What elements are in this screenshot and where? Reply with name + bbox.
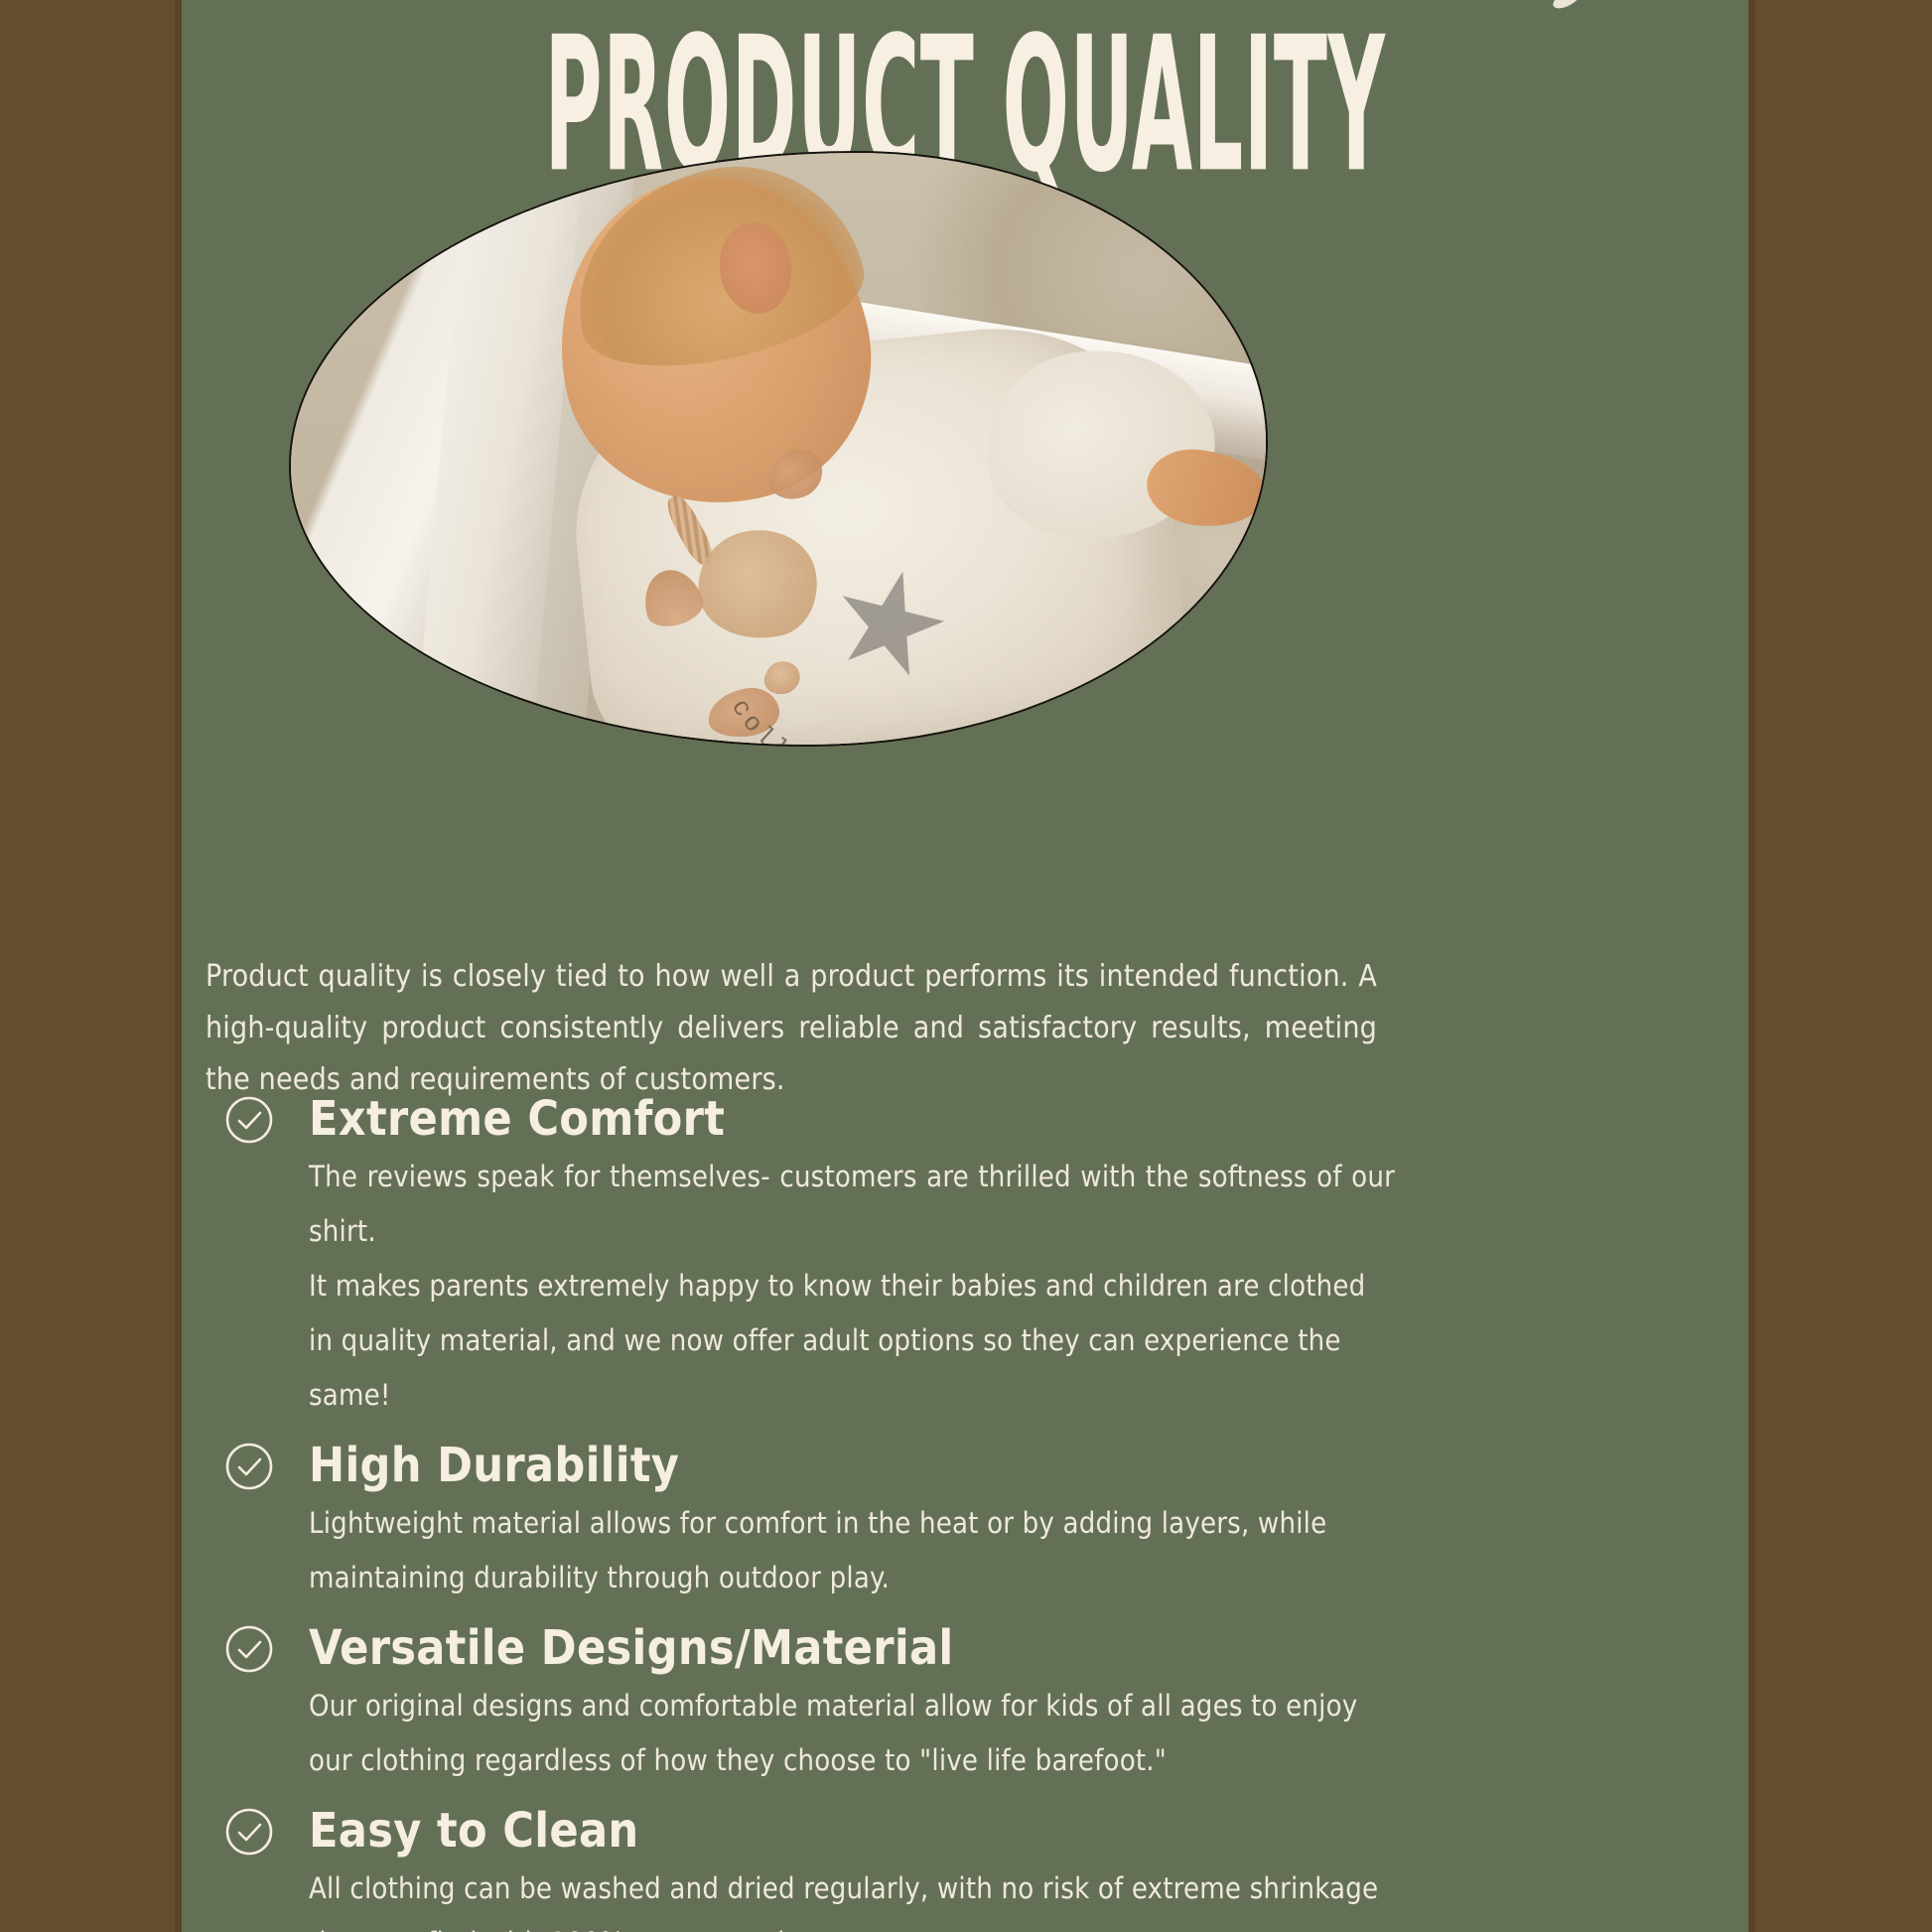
shirt-print-word-text: collector <box>724 683 882 747</box>
check-circle-icon <box>223 1094 275 1146</box>
feature-item-versatile-designs: Versatile Designs/Material Our original … <box>223 1619 1395 1788</box>
feature-item-high-durability: High Durability Lightweight material all… <box>223 1437 1395 1605</box>
hero-photo-frame: collector <box>289 151 1268 747</box>
decorative-fleck-icon <box>1550 0 1583 12</box>
feature-body-line: Lightweight material allows for comfort … <box>309 1496 1395 1605</box>
feature-body: Lightweight material allows for comfort … <box>309 1496 1395 1605</box>
feature-body-line: Our original designs and comfortable mat… <box>309 1679 1395 1788</box>
check-circle-icon <box>223 1623 275 1675</box>
green-content-card: PRODUCT QUALITY <box>182 0 1748 1932</box>
feature-body: Our original designs and comfortable mat… <box>309 1679 1395 1788</box>
feature-body: All clothing can be washed and dried reg… <box>309 1862 1395 1932</box>
feature-item-easy-to-clean: Easy to Clean All clothing can be washed… <box>223 1802 1395 1932</box>
feature-body-line: The reviews speak for themselves- custom… <box>309 1150 1395 1259</box>
feature-body-line: All clothing can be washed and dried reg… <box>309 1862 1395 1932</box>
feature-list: Extreme Comfort The reviews speak for th… <box>223 1090 1395 1932</box>
intro-paragraph: Product quality is closely tied to how w… <box>206 951 1377 1106</box>
feature-heading: Extreme Comfort <box>309 1090 1395 1148</box>
poster-page: PRODUCT QUALITY <box>0 0 1932 1932</box>
feature-heading: High Durability <box>309 1437 1395 1494</box>
check-circle-icon <box>223 1806 275 1858</box>
hero-photo: collector <box>291 153 1266 745</box>
check-circle-icon <box>223 1441 275 1492</box>
feature-heading: Easy to Clean <box>309 1802 1395 1860</box>
frame-seam-right <box>1748 0 1755 1932</box>
feature-item-extreme-comfort: Extreme Comfort The reviews speak for th… <box>223 1090 1395 1423</box>
frame-seam-left <box>175 0 182 1932</box>
feature-body: The reviews speak for themselves- custom… <box>309 1150 1395 1423</box>
feature-body-line: It makes parents extremely happy to know… <box>309 1259 1395 1423</box>
feature-heading: Versatile Designs/Material <box>309 1619 1395 1677</box>
